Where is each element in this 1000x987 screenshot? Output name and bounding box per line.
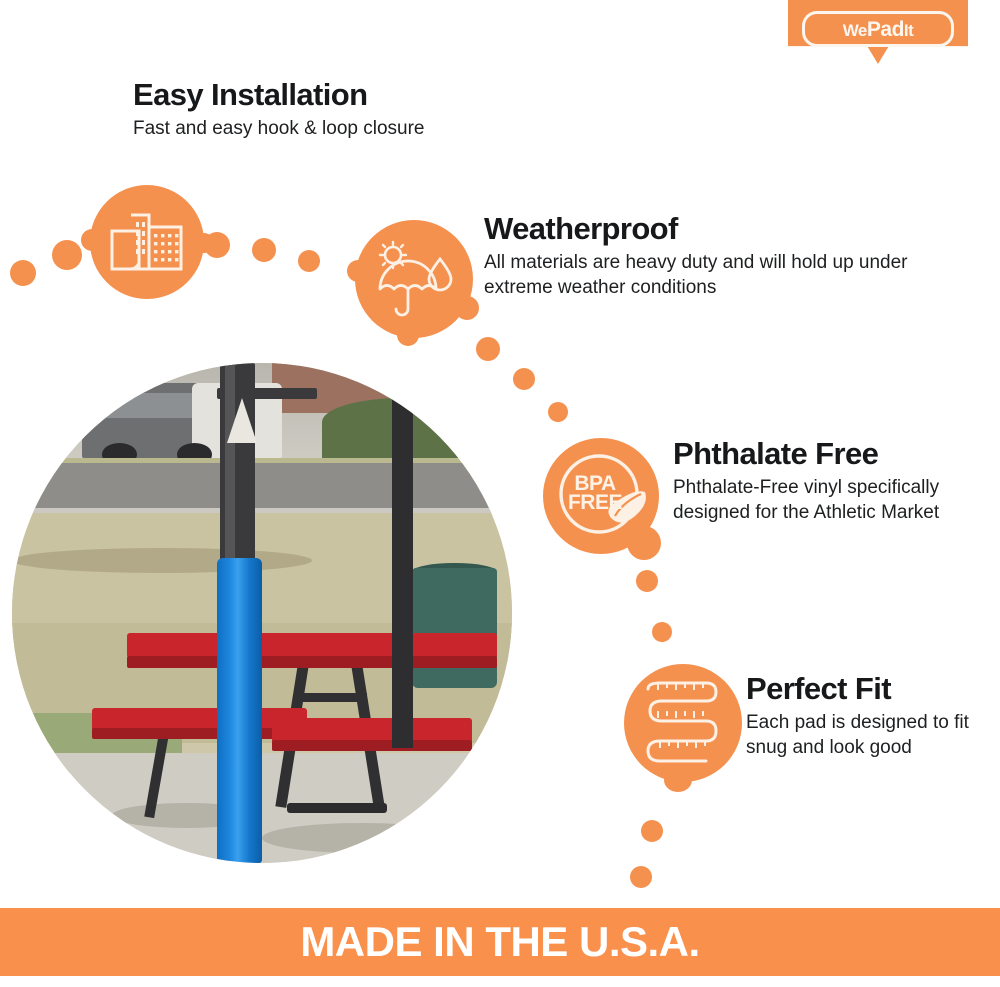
disc-bump — [347, 260, 369, 282]
weather-glyph — [372, 239, 456, 319]
bpa-free-leaf-icon: BPA FREE — [543, 438, 659, 554]
feature-perfect-fit: Perfect Fit Each pad is designed to fit … — [746, 672, 986, 761]
feature-description: Fast and easy hook & loop closure — [133, 117, 563, 142]
trail-dot — [630, 866, 652, 888]
trail-dot — [513, 368, 535, 390]
photo-blue-pole-pad — [217, 558, 262, 863]
bpa-line-2: FREE — [568, 493, 622, 512]
photo-bench-edge — [272, 740, 472, 751]
feature-title: Phthalate Free — [673, 437, 973, 470]
photo-dirt-patch — [12, 548, 312, 573]
logo-text-pad: Pad — [867, 18, 904, 41]
disc-bump — [664, 768, 692, 792]
feature-description: Each pad is designed to fit snug and loo… — [746, 711, 986, 760]
product-photo — [12, 363, 512, 863]
bpa-free-text: BPA FREE — [568, 474, 622, 513]
feature-weatherproof: Weatherproof All materials are heavy dut… — [484, 212, 914, 301]
logo-text-it: It — [904, 21, 913, 40]
photo-table-foot — [287, 803, 387, 813]
sun-umbrella-raindrop-icon — [355, 220, 473, 338]
photo-hedge — [322, 398, 512, 458]
brand-logo[interactable]: WePadIt — [788, 0, 968, 64]
photo-shadow — [262, 823, 462, 853]
trail-dot — [252, 238, 276, 262]
photo-table-crossbar — [297, 693, 367, 702]
disc-bump — [81, 229, 103, 251]
building-pad-icon — [90, 185, 204, 299]
trail-dot — [652, 622, 672, 642]
trail-dot — [636, 570, 658, 592]
trail-dot — [10, 260, 36, 286]
building-pad-glyph — [109, 211, 185, 273]
trail-dot — [641, 820, 663, 842]
feature-title: Weatherproof — [484, 212, 914, 245]
trail-dot — [298, 250, 320, 272]
feature-description: Phthalate-Free vinyl specifically design… — [673, 476, 973, 525]
measuring-tape-glyph — [636, 677, 730, 769]
trail-dot — [548, 402, 568, 422]
trail-dot — [204, 232, 230, 258]
disc-bump — [397, 324, 419, 346]
photo-trash-barrel — [412, 568, 497, 688]
made-in-usa-text: MADE IN THE U.S.A. — [300, 921, 699, 963]
feature-easy-installation: Easy Installation Fast and easy hook & l… — [133, 78, 563, 142]
disc-bump — [455, 296, 479, 320]
feature-phthalate-free: Phthalate Free Phthalate-Free vinyl spec… — [673, 437, 973, 526]
made-in-usa-banner: MADE IN THE U.S.A. — [0, 908, 1000, 976]
photo-picnic-tabletop — [127, 633, 497, 658]
trail-dot — [52, 240, 82, 270]
logo-frame: WePadIt — [802, 11, 954, 47]
logo-text: WePadIt — [843, 19, 914, 40]
feature-title: Perfect Fit — [746, 672, 986, 705]
trail-dot — [476, 337, 500, 361]
photo-road — [12, 463, 512, 513]
feature-title: Easy Installation — [133, 78, 563, 111]
feature-description: All materials are heavy duty and will ho… — [484, 251, 914, 300]
measuring-tape-icon — [624, 664, 742, 782]
photo-picnic-tabletop-edge — [127, 656, 497, 668]
logo-text-we: We — [843, 21, 867, 40]
product-infographic: WePadIt Easy Installation Fast and easy … — [0, 0, 1000, 987]
photo-shade-post — [392, 398, 413, 748]
